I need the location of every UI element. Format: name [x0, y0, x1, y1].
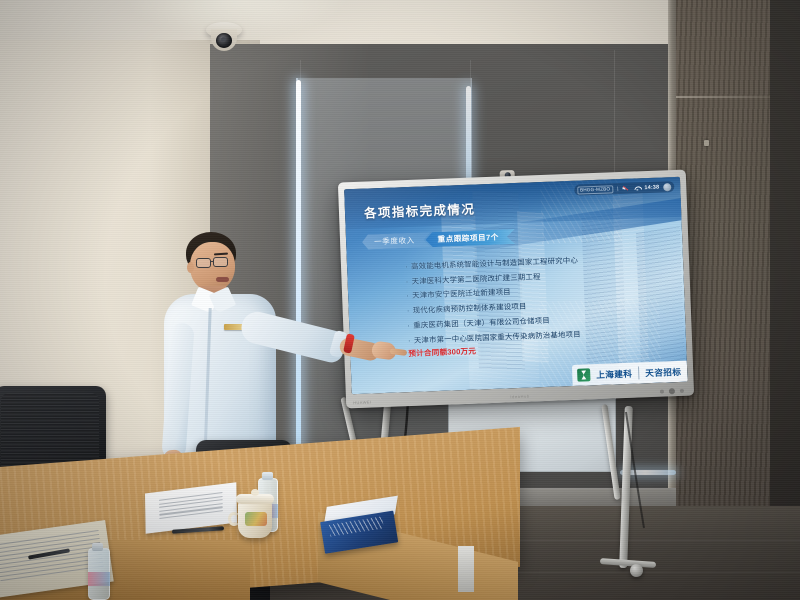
presenter-mouth	[216, 277, 229, 282]
list-item: · 现代化疾病预防控制体系建设项目	[407, 298, 657, 316]
wifi-ssid-label: BHGG-MZBO	[577, 185, 613, 194]
list-item: · 天津市第一中心医院国家重大传染病防治基地项目	[408, 327, 658, 345]
presentation-slide: 各项指标完成情况 一季度收入 重点跟踪项目7个 · 高效能电机系统智能设计与制造…	[344, 177, 687, 394]
slide-bullet-list: · 高效能电机系统智能设计与制造国家工程研究中心 · 天津医科大学第二医院改扩建…	[405, 254, 658, 352]
wifi-icon[interactable]	[633, 184, 640, 191]
list-item-label: 现代化疾病预防控制体系建设项目	[413, 303, 527, 315]
list-item-label: 天津市第一中心医院国家重大传染病防治基地项目	[414, 330, 581, 344]
bezel-power-icon[interactable]	[669, 388, 675, 394]
display-brand-center: IdeaHub	[510, 394, 530, 400]
list-item-label: 天津市安宁医院迁址新建项目	[412, 289, 511, 301]
list-item-label: 重庆医药集团（天津）有限公司仓储项目	[413, 317, 550, 330]
mute-icon[interactable]	[622, 185, 629, 192]
meeting-room-photo: 各项指标完成情况 一季度收入 重点跟踪项目7个 · 高效能电机系统智能设计与制造…	[0, 0, 800, 600]
document-text-lines	[159, 492, 223, 521]
logo-primary-label: 上海建科	[596, 367, 632, 380]
camera-lens-center	[221, 37, 226, 42]
bottle-label	[88, 572, 110, 586]
eyeglasses-bridge	[210, 261, 214, 262]
list-item: · 重庆医药集团（天津）有限公司仓储项目	[407, 313, 657, 331]
wall-panel-fastener	[704, 140, 709, 146]
mug-decoration	[245, 512, 267, 526]
logo-secondary-label: 天咨招标	[645, 365, 681, 378]
stand-caster-wheel	[630, 564, 643, 577]
slide-footer-logos: 上海建科 天咨招标	[572, 361, 688, 386]
display-screen[interactable]: 各项指标完成情况 一季度收入 重点跟踪项目7个 · 高效能电机系统智能设计与制造…	[344, 177, 687, 394]
bezel-key-icon[interactable]	[660, 390, 664, 394]
bezel-key-icon[interactable]	[680, 389, 684, 393]
bottle-cap	[262, 472, 273, 480]
status-separator: |	[617, 186, 619, 192]
bottle-cap	[92, 543, 103, 551]
table-leg	[458, 546, 474, 592]
clock-label: 14:38	[644, 184, 659, 191]
list-item-label: 高效能电机系统智能设计与制造国家工程研究中心	[411, 257, 578, 271]
booklet-cover-graphic	[329, 516, 384, 536]
display-bezel: 各项指标完成情况 一季度收入 重点跟踪项目7个 · 高效能电机系统智能设计与制造…	[338, 170, 694, 409]
list-item: · 天津医科大学第二医院改扩建三期工程	[406, 268, 656, 286]
wall-panel-seam	[676, 96, 772, 98]
logo-divider	[638, 366, 639, 379]
eyeglasses-icon	[213, 257, 228, 267]
list-item-label: 天津医科大学第二医院改扩建三期工程	[412, 273, 541, 286]
mug-lid-knob	[251, 489, 259, 496]
interactive-display[interactable]: 各项指标完成情况 一季度收入 重点跟踪项目7个 · 高效能电机系统智能设计与制造…	[338, 170, 694, 409]
company-logo-icon	[577, 368, 590, 381]
menu-button[interactable]	[663, 183, 671, 191]
eyeglasses-icon	[196, 258, 211, 268]
list-item: · 天津市安宁医院迁址新建项目	[406, 283, 656, 301]
presenter-ear	[187, 262, 194, 273]
display-bezel-controls[interactable]	[660, 388, 684, 395]
